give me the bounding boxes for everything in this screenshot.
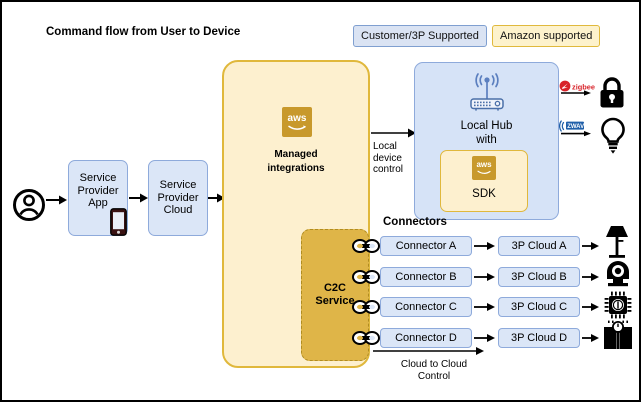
- legend-customer-supported: Customer/3P Supported: [353, 25, 487, 47]
- local-device-control-label: Local device control: [373, 141, 413, 176]
- connector-d-label: Connector D: [395, 332, 457, 344]
- c2c-service-label: C2C Service: [315, 282, 354, 307]
- arrow-local-device-control: [371, 127, 417, 139]
- chain-link-icon: [352, 299, 380, 315]
- arrow-connector-a-to-cloud-a: [474, 240, 496, 252]
- managed-integrations-label: Managed integrations: [222, 148, 370, 175]
- cloud-d-label: 3P Cloud D: [511, 332, 567, 344]
- cloud-b-box[interactable]: 3P Cloud B: [498, 267, 580, 287]
- lightbulb-icon: [598, 117, 628, 155]
- chain-link-icon: [352, 269, 380, 285]
- arrow-connector-b-to-cloud-b: [474, 271, 496, 283]
- connectors-heading: Connectors: [383, 216, 447, 228]
- scale-icon: [602, 319, 634, 351]
- legend-amazon-supported: Amazon supported: [492, 25, 600, 47]
- arrow-cloud-a-to-device: [582, 240, 600, 252]
- svg-text:ZWAVE: ZWAVE: [567, 124, 588, 130]
- aws-logo-managed-integrations: aws: [282, 107, 312, 137]
- chain-link-icon: [352, 238, 380, 254]
- arrow-cloud-c-to-device: [582, 301, 600, 313]
- diagram-canvas: Command flow from User to Device Custome…: [0, 0, 641, 402]
- cloud-to-cloud-control-label: Cloud to Cloud Control: [374, 359, 494, 382]
- aws-logo-sdk-text: aws: [476, 161, 491, 169]
- user-avatar-icon: [12, 188, 46, 222]
- chain-link-icon: [352, 330, 380, 346]
- aws-logo-sdk: aws: [472, 156, 496, 180]
- service-provider-cloud-label: Service Provider Cloud: [158, 179, 199, 217]
- arrow-cloud-to-cloud-control: [373, 345, 485, 357]
- connector-a-box[interactable]: Connector A: [380, 236, 472, 256]
- cloud-a-label: 3P Cloud A: [512, 240, 567, 252]
- chip-sensor-icon: [603, 290, 633, 320]
- connector-c-label: Connector C: [395, 301, 457, 313]
- cloud-b-label: 3P Cloud B: [511, 271, 566, 283]
- arrow-connector-c-to-cloud-c: [474, 301, 496, 313]
- cloud-c-box[interactable]: 3P Cloud C: [498, 297, 580, 317]
- camera-icon: [603, 260, 633, 288]
- cloud-a-box[interactable]: 3P Cloud A: [498, 236, 580, 256]
- aws-logo-text: aws: [288, 114, 307, 124]
- connector-b-label: Connector B: [395, 271, 456, 283]
- arrow-cloud-d-to-device: [582, 332, 600, 344]
- service-provider-cloud-box[interactable]: Service Provider Cloud: [148, 160, 208, 236]
- sdk-label: SDK: [440, 188, 528, 200]
- zwave-logo-icon: ZWAVE: [559, 120, 603, 136]
- hub-router-icon: [469, 72, 505, 116]
- connector-c-box[interactable]: Connector C: [380, 297, 472, 317]
- arrow-user-to-app: [46, 194, 68, 206]
- lamp-icon: [602, 224, 632, 260]
- padlock-icon: [596, 76, 628, 110]
- cloud-c-label: 3P Cloud C: [511, 301, 567, 313]
- arrow-connector-d-to-cloud-d: [474, 332, 496, 344]
- page-title: Command flow from User to Device: [46, 26, 240, 38]
- svg-text:zigbee: zigbee: [572, 83, 595, 92]
- cloud-d-box[interactable]: 3P Cloud D: [498, 328, 580, 348]
- arrow-cloud-b-to-device: [582, 271, 600, 283]
- local-hub-label: Local Hub with: [414, 119, 559, 148]
- phone-icon: [110, 208, 127, 236]
- service-provider-app-label: Service Provider App: [78, 172, 119, 210]
- arrow-app-to-cloud: [129, 192, 149, 204]
- connector-a-label: Connector A: [396, 240, 457, 252]
- connector-b-box[interactable]: Connector B: [380, 267, 472, 287]
